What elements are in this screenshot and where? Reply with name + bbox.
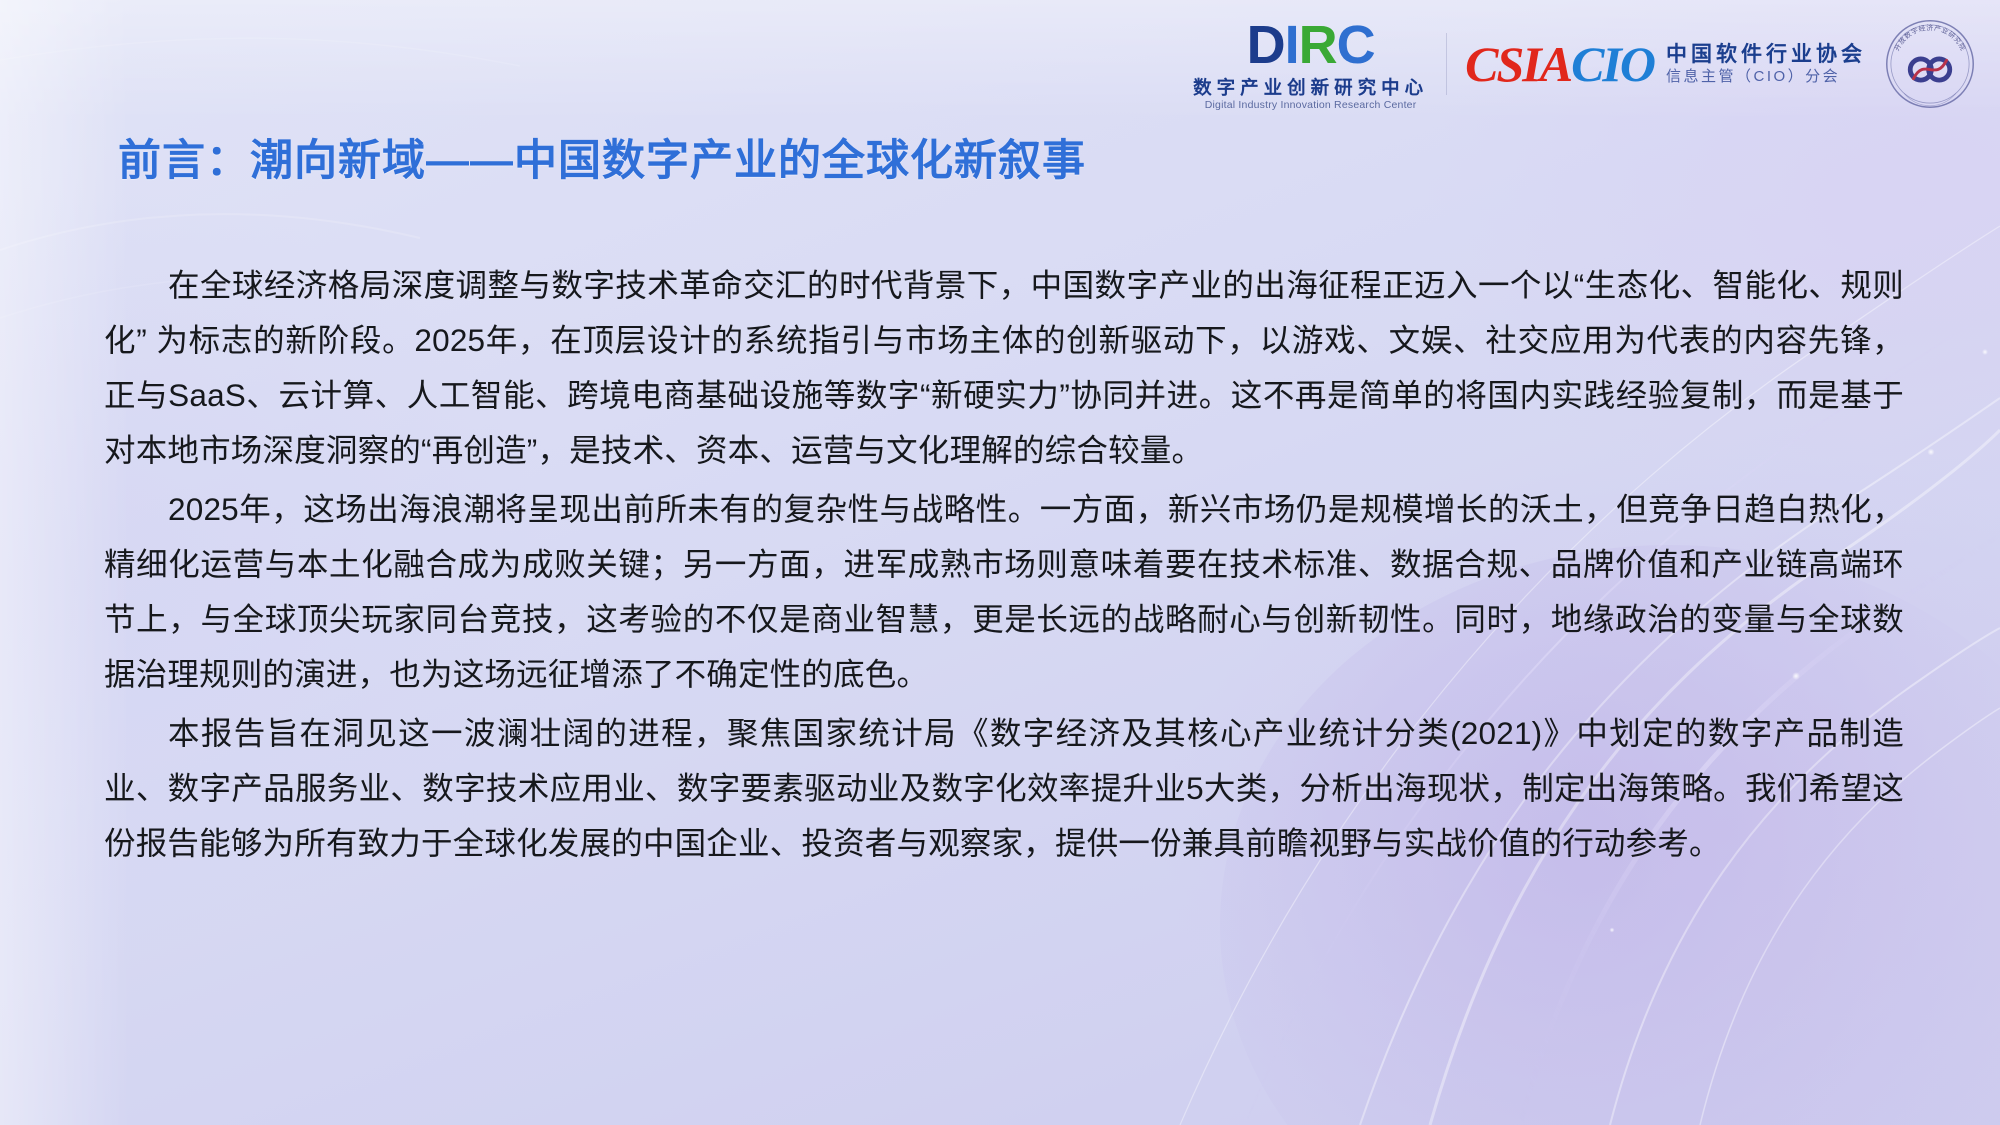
csia-association-name: 中国软件行业协会 (1666, 43, 1866, 68)
slide-canvas: D I R C 数字产业创新研究中心 Digital Industry Inno… (0, 0, 2000, 1125)
logo-divider (1446, 33, 1447, 95)
csia-wordmark: CS IA CIO (1465, 35, 1654, 93)
csia-text-block: 中国软件行业协会 信息主管（CIO）分会 (1666, 43, 1866, 85)
dirc-chinese-name: 数字产业创新研究中心 (1193, 79, 1428, 98)
dirc-wordmark: D I R C (1247, 18, 1375, 72)
dirc-letter-i: I (1285, 18, 1299, 72)
body-text-container: 在全球经济格局深度调整与数字技术革命交汇的时代背景下，中国数字产业的出海征程正迈… (104, 258, 1904, 871)
csia-cio-logo: CS IA CIO 中国软件行业协会 信息主管（CIO）分会 (1465, 35, 1866, 93)
paragraph-3: 本报告旨在洞见这一波澜壮阔的进程，聚焦国家统计局《数字经济及其核心产业统计分类(… (104, 706, 1904, 871)
paragraph-1: 在全球经济格局深度调整与数字技术革命交汇的时代背景下，中国数字产业的出海征程正迈… (104, 258, 1904, 478)
csia-branch-name: 信息主管（CIO）分会 (1666, 68, 1866, 86)
svg-text:开放数字经济产业研究院: 开放数字经济产业研究院 (1893, 23, 1968, 52)
csia-mark-ia: IA (1522, 35, 1571, 93)
dirc-logo: D I R C 数字产业创新研究中心 Digital Industry Inno… (1193, 18, 1428, 111)
dirc-letter-d: D (1247, 18, 1285, 72)
seal-icon: 开放数字经济产业研究院 (1884, 18, 1976, 110)
csia-mark-cio: CIO (1571, 35, 1654, 93)
seal-logo: 开放数字经济产业研究院 (1884, 18, 1976, 110)
header-logo-bar: D I R C 数字产业创新研究中心 Digital Industry Inno… (1193, 16, 1976, 112)
dirc-letter-c: C (1337, 18, 1375, 72)
dirc-english-name: Digital Industry Innovation Research Cen… (1205, 100, 1417, 111)
page-title: 前言：潮向新域——中国数字产业的全球化新叙事 (118, 126, 1086, 188)
csia-mark-cs: CS (1465, 35, 1522, 93)
dirc-letter-r: R (1299, 18, 1337, 72)
paragraph-2: 2025年，这场出海浪潮将呈现出前所未有的复杂性与战略性。一方面，新兴市场仍是规… (104, 482, 1904, 702)
